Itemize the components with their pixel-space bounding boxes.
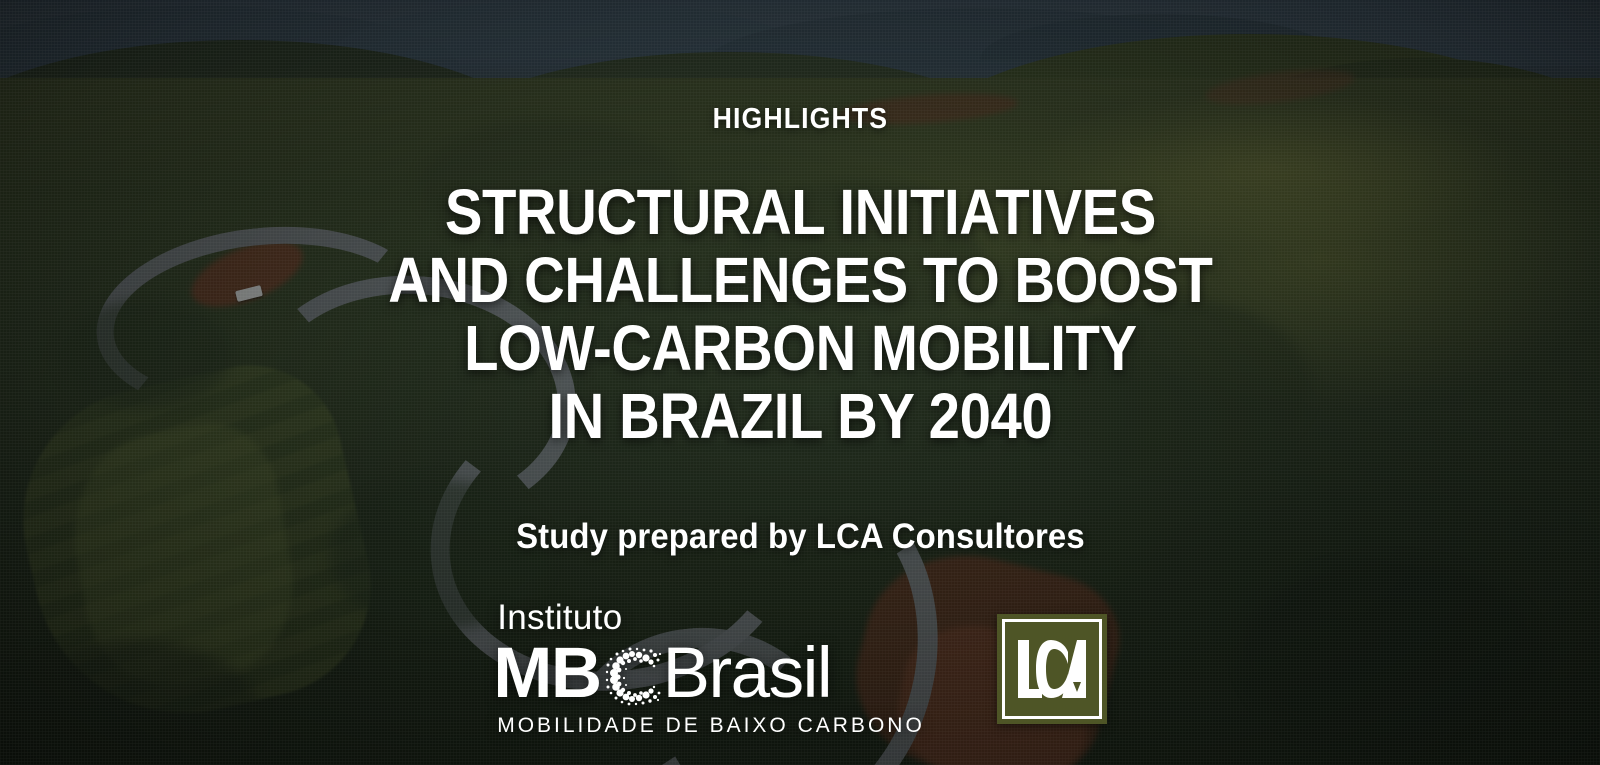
logo-lca-letters — [1015, 638, 1089, 700]
logo-lca-frame — [1002, 619, 1102, 719]
headline-line-2: AND CHALLENGES TO BOOST — [388, 246, 1212, 314]
cover-slide: HIGHLIGHTS STRUCTURAL INITIATIVES AND CH… — [0, 0, 1600, 765]
kicker-label: HIGHLIGHTS — [712, 105, 888, 134]
logo-tagline: MOBILIDADE DE BAIXO CARBONO — [497, 714, 925, 738]
logo-brasil-word: Brasil — [663, 638, 832, 709]
subtitle: Study prepared by LCA Consultores — [516, 519, 1085, 554]
logo-mb-letters: MB — [493, 638, 600, 709]
cover-content: HIGHLIGHTS STRUCTURAL INITIATIVES AND CH… — [0, 0, 1600, 765]
logo-instituto-word: Instituto — [497, 600, 622, 636]
page-title: STRUCTURAL INITIATIVES AND CHALLENGES TO… — [388, 178, 1212, 450]
logo-instituto-mbc-brasil: Instituto MB — [493, 600, 925, 738]
headline-line-1: STRUCTURAL INITIATIVES — [388, 178, 1212, 246]
logo-lca — [997, 614, 1107, 724]
halftone-c-icon — [602, 645, 664, 707]
logo-mbcbrasil-wordmark: MB — [493, 638, 831, 709]
headline-line-3: LOW-CARBON MOBILITY — [388, 314, 1212, 382]
headline-line-4: IN BRAZIL BY 2040 — [388, 382, 1212, 450]
logo-row: Instituto MB — [493, 600, 1107, 738]
